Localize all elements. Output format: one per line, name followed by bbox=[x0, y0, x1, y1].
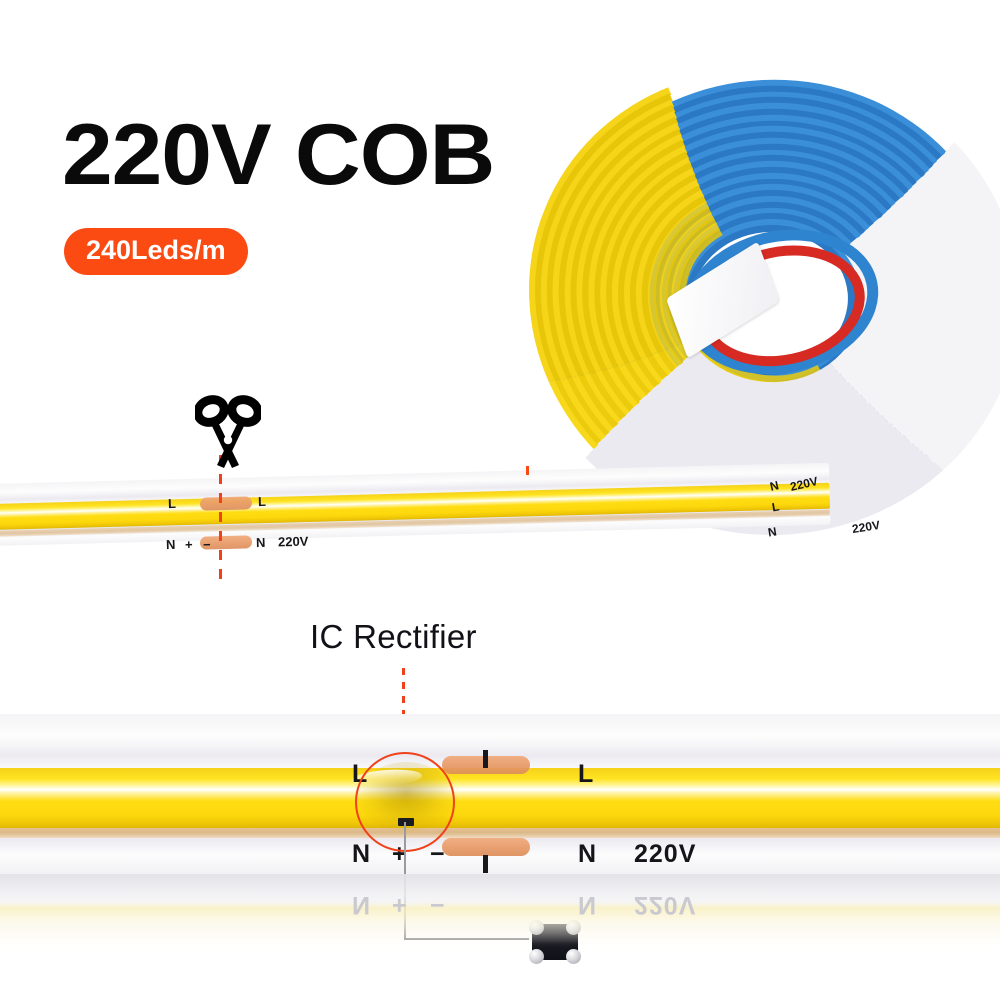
detail-marking-N-left: N bbox=[352, 840, 370, 869]
reflection-marking-minus: − bbox=[430, 890, 445, 919]
phosphor-band bbox=[0, 768, 1000, 828]
cut-pad-top bbox=[200, 496, 252, 510]
marking-L-left: L bbox=[168, 496, 176, 511]
reflection-voltage: 220V bbox=[634, 890, 696, 919]
reel-hub bbox=[668, 218, 872, 381]
ic-rectifier-label: IC Rectifier bbox=[310, 618, 477, 656]
marking-N-left: N bbox=[166, 537, 176, 552]
product-image-canvas: 220V COB 240Leds/m L L N + − N 220V N 22… bbox=[0, 0, 1000, 1000]
marking-N-right: N bbox=[256, 535, 266, 550]
scissors-icon bbox=[195, 393, 261, 471]
led-density-badge: 240Leds/m bbox=[64, 228, 248, 275]
detail-marking-minus: − bbox=[430, 840, 445, 869]
reflection-marking-N: N bbox=[352, 890, 370, 919]
detail-marking-voltage: 220V bbox=[634, 840, 696, 869]
page-title: 220V COB bbox=[62, 112, 494, 198]
marking-L-right: L bbox=[258, 494, 266, 509]
marking-minus: − bbox=[203, 537, 211, 552]
reflection-phosphor-glow bbox=[0, 905, 1000, 947]
marking-voltage: 220V bbox=[278, 534, 309, 550]
cut-line bbox=[219, 455, 222, 585]
reflection-marking-N-right: N bbox=[578, 890, 596, 919]
detail-pad-bottom bbox=[442, 838, 530, 856]
detail-marking-N-right: N bbox=[578, 840, 596, 869]
reflection-marking-plus: + bbox=[392, 890, 407, 919]
detail-marking-L-right: L bbox=[578, 760, 593, 789]
cut-tick-top bbox=[483, 750, 488, 768]
marking-plus: + bbox=[185, 537, 193, 552]
stray-dash-mark bbox=[526, 466, 529, 475]
cut-tick-bottom bbox=[483, 855, 488, 873]
